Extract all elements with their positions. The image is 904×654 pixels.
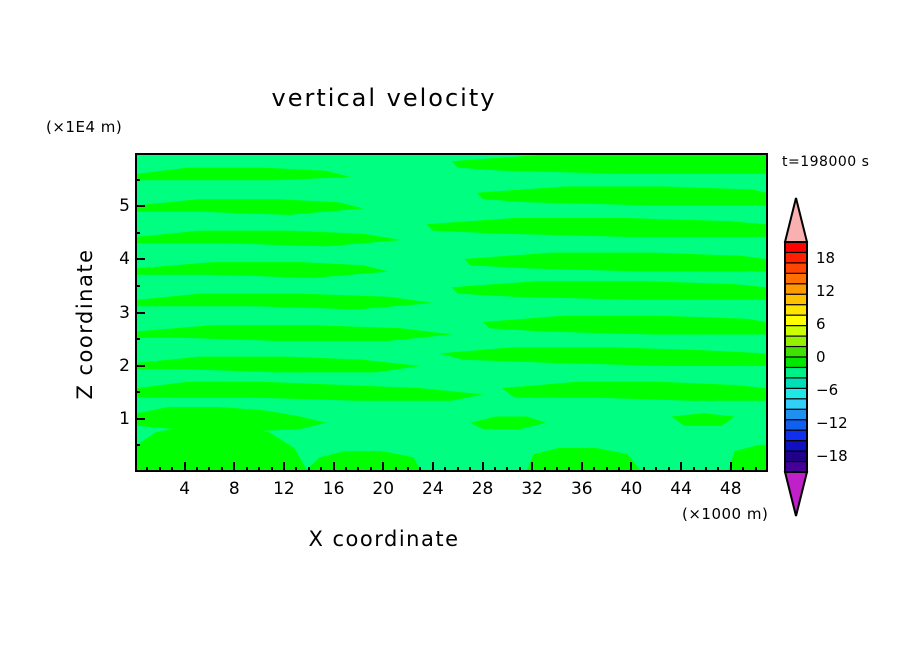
x-axis-minor-tick <box>506 467 508 472</box>
x-axis-tick-label: 44 <box>670 479 692 499</box>
x-axis-minor-tick <box>655 467 657 472</box>
x-axis-minor-tick <box>208 467 210 472</box>
time-annotation: t=198000 s <box>782 154 869 170</box>
x-axis-minor-tick <box>494 467 496 472</box>
x-axis-minor-tick <box>196 467 198 472</box>
y-axis-title: Z coordinate <box>73 224 97 424</box>
x-axis-minor-tick <box>221 467 223 472</box>
z-axis-units-label: (×1E4 m) <box>46 118 122 136</box>
y-axis-tick-label: 4 <box>112 249 130 269</box>
colorbar-band <box>785 273 807 284</box>
x-axis-minor-tick <box>469 467 471 472</box>
colorbar-tick-label: −12 <box>816 414 848 432</box>
x-axis-minor-tick <box>693 467 695 472</box>
colorbar-band <box>785 315 807 326</box>
x-axis-tick-label: 16 <box>323 479 345 499</box>
x-axis-major-tick <box>730 462 732 472</box>
colorbar-band <box>785 347 807 358</box>
x-axis-minor-tick <box>519 467 521 472</box>
colorbar-band <box>785 242 807 253</box>
x-axis-major-tick <box>432 462 434 472</box>
x-axis-major-tick <box>382 462 384 472</box>
x-axis-tick-label: 36 <box>571 479 593 499</box>
x-axis-minor-tick <box>457 467 459 472</box>
chart-page: vertical velocity (×1E4 m) t=198000 s 48… <box>0 0 904 654</box>
x-axis-minor-tick <box>705 467 707 472</box>
colorbar-band <box>785 305 807 316</box>
y-axis-tick-label: 3 <box>112 303 130 323</box>
colorbar-band <box>785 284 807 295</box>
x-axis-minor-tick <box>407 467 409 472</box>
colorbar-tick-label: 12 <box>816 282 835 300</box>
colorbar-tick-label: −18 <box>816 447 848 465</box>
colorbar-tick-label: 0 <box>816 348 826 366</box>
x-axis-minor-tick <box>271 467 273 472</box>
x-axis-minor-tick <box>146 467 148 472</box>
x-axis-major-tick <box>482 462 484 472</box>
x-axis-minor-tick <box>568 467 570 472</box>
x-axis-minor-tick <box>444 467 446 472</box>
colorbar-swatches <box>783 196 809 518</box>
x-axis-tick-label: 32 <box>521 479 543 499</box>
y-axis-tick-label: 2 <box>112 356 130 376</box>
colorbar-tick-label: −6 <box>816 381 838 399</box>
x-axis-minor-tick <box>618 467 620 472</box>
x-axis-minor-tick <box>159 467 161 472</box>
colorbar-band <box>785 336 807 347</box>
colorbar-band <box>785 388 807 399</box>
colorbar-band <box>785 430 807 441</box>
y-axis-tick-label: 1 <box>112 409 130 429</box>
x-axis-major-tick <box>333 462 335 472</box>
x-axis-minor-tick <box>258 467 260 472</box>
x-axis-tick-label: 40 <box>621 479 643 499</box>
y-axis-major-tick <box>135 418 145 420</box>
x-axis-minor-tick <box>742 467 744 472</box>
colorbar-over-arrow <box>785 198 807 242</box>
colorbar-band <box>785 462 807 473</box>
colorbar-band <box>785 441 807 452</box>
x-axis-minor-tick <box>755 467 757 472</box>
x-axis-minor-tick <box>668 467 670 472</box>
x-axis-minor-tick <box>357 467 359 472</box>
colorbar-band <box>785 294 807 305</box>
y-axis-minor-tick <box>135 232 140 234</box>
x-axis-minor-tick <box>320 467 322 472</box>
x-axis-minor-tick <box>370 467 372 472</box>
x-axis-major-tick <box>531 462 533 472</box>
x-axis-minor-tick <box>419 467 421 472</box>
x-axis-major-tick <box>630 462 632 472</box>
colorbar-band <box>785 451 807 462</box>
x-axis-major-tick <box>184 462 186 472</box>
y-axis-minor-tick <box>135 285 140 287</box>
y-axis-minor-tick <box>135 338 140 340</box>
x-axis-minor-tick <box>246 467 248 472</box>
x-axis-minor-tick <box>171 467 173 472</box>
x-axis-minor-tick <box>643 467 645 472</box>
x-axis-minor-tick <box>593 467 595 472</box>
colorbar-band <box>785 378 807 389</box>
x-axis-units-label: (×1000 m) <box>682 505 768 523</box>
colorbar-band <box>785 367 807 378</box>
colorbar-tick-label: 6 <box>816 315 826 333</box>
y-axis-major-tick <box>135 312 145 314</box>
x-axis-tick-label: 48 <box>720 479 742 499</box>
x-axis-tick-label: 28 <box>472 479 494 499</box>
x-axis-title: X coordinate <box>0 527 768 551</box>
x-axis-minor-tick <box>295 467 297 472</box>
y-axis-tick-label: 5 <box>112 196 130 216</box>
x-axis-minor-tick <box>556 467 558 472</box>
x-axis-minor-tick <box>395 467 397 472</box>
x-axis-minor-tick <box>717 467 719 472</box>
x-axis-minor-tick <box>308 467 310 472</box>
x-axis-minor-tick <box>345 467 347 472</box>
page-title: vertical velocity <box>0 84 768 112</box>
x-axis-tick-label: 24 <box>422 479 444 499</box>
colorbar-band <box>785 326 807 337</box>
colorbar-band <box>785 399 807 410</box>
contour-field <box>137 155 766 470</box>
colorbar-under-arrow <box>785 472 807 516</box>
y-axis-major-tick <box>135 258 145 260</box>
y-axis-major-tick <box>135 205 145 207</box>
colorbar-band <box>785 252 807 263</box>
colorbar-band <box>785 357 807 368</box>
x-axis-tick-label: 8 <box>229 479 240 499</box>
x-axis-minor-tick <box>544 467 546 472</box>
x-axis-major-tick <box>283 462 285 472</box>
contour-plot-area <box>135 153 768 472</box>
x-axis-major-tick <box>233 462 235 472</box>
x-axis-minor-tick <box>606 467 608 472</box>
y-axis-minor-tick <box>135 444 140 446</box>
y-axis-minor-tick <box>135 391 140 393</box>
colorbar-band <box>785 420 807 431</box>
x-axis-major-tick <box>680 462 682 472</box>
y-axis-major-tick <box>135 365 145 367</box>
x-axis-tick-label: 12 <box>273 479 295 499</box>
x-axis-major-tick <box>581 462 583 472</box>
y-axis-minor-tick <box>135 179 140 181</box>
x-axis-tick-label: 4 <box>179 479 190 499</box>
colorbar[interactable] <box>783 196 809 518</box>
colorbar-band <box>785 409 807 420</box>
colorbar-tick-label: 18 <box>816 249 835 267</box>
colorbar-band <box>785 263 807 274</box>
x-axis-tick-label: 20 <box>372 479 394 499</box>
